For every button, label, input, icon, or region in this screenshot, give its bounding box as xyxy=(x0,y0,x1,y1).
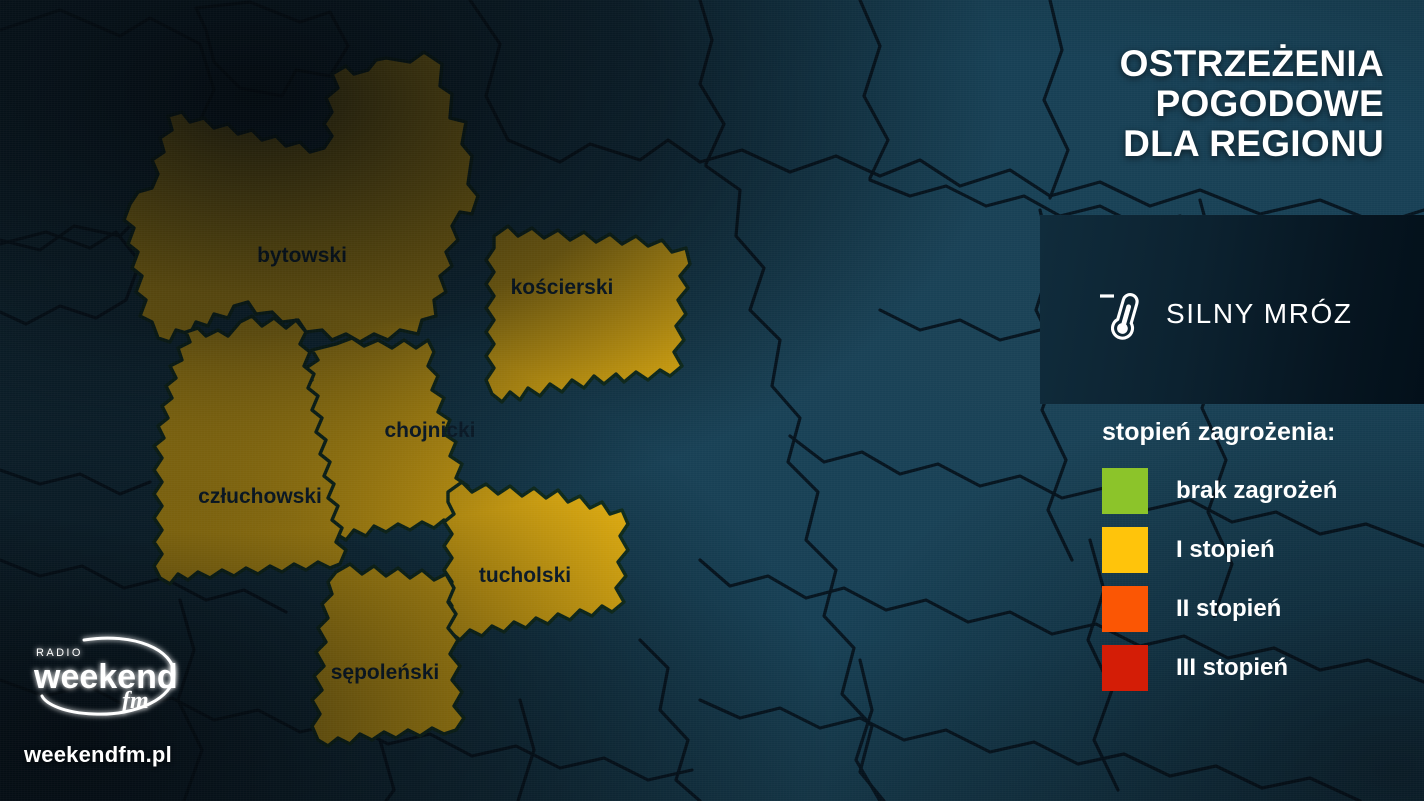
page-title: OSTRZEŻENIA POGODOWE DLA REGIONU xyxy=(1036,44,1384,164)
county-koscierski[interactable] xyxy=(486,226,690,402)
radio-weekend-fm-logo[interactable]: RADIO weekend fm xyxy=(22,628,192,724)
legend-label-stopien-2: II stopień xyxy=(1176,595,1281,623)
county-label-chojnicki: chojnicki xyxy=(384,419,475,442)
county-tucholski[interactable] xyxy=(444,482,628,640)
county-bytowski[interactable] xyxy=(124,52,478,342)
title-line-2: POGODOWE xyxy=(1036,84,1384,124)
county-label-tucholski: tucholski xyxy=(479,564,571,587)
legend-label-stopien-1: I stopień xyxy=(1176,536,1275,564)
county-sepolenski[interactable] xyxy=(312,564,464,746)
thermometer-cold-icon xyxy=(1098,286,1144,342)
legend-item-stopien-1[interactable]: I stopień xyxy=(1102,527,1422,573)
legend-item-stopien-2[interactable]: II stopień xyxy=(1102,586,1422,632)
legend-item-brak-zagrozen[interactable]: brak zagrożeń xyxy=(1102,468,1422,514)
warning-type-label: SILNY MRÓZ xyxy=(1166,298,1353,330)
warning-type-row: SILNY MRÓZ xyxy=(1098,286,1353,342)
title-line-3: DLA REGIONU xyxy=(1036,124,1384,164)
website-url[interactable]: weekendfm.pl xyxy=(24,742,172,768)
info-panel: OSTRZEŻENIA POGODOWE DLA REGIONU SILNY M… xyxy=(1040,0,1424,801)
legend-title: stopień zagrożenia: xyxy=(1102,418,1422,447)
county-label-sepolenski: sępoleński xyxy=(331,661,440,684)
legend-swatch-yellow xyxy=(1102,527,1148,573)
county-label-koscierski: kościerski xyxy=(511,276,614,299)
weather-warning-graphic: bytowski kościerski chojnicki człuchowsk… xyxy=(0,0,1424,801)
county-label-czluchowski: człuchowski xyxy=(198,485,322,508)
logo-fm-text: fm xyxy=(122,688,149,714)
logo-weekend-text: weekend xyxy=(33,658,178,696)
warned-counties xyxy=(124,52,690,746)
legend-swatch-green xyxy=(1102,468,1148,514)
legend: stopień zagrożenia: brak zagrożeń I stop… xyxy=(1102,418,1422,704)
title-line-1: OSTRZEŻENIA xyxy=(1036,44,1384,84)
legend-swatch-orange xyxy=(1102,586,1148,632)
legend-item-stopien-3[interactable]: III stopień xyxy=(1102,645,1422,691)
legend-label-brak-zagrozen: brak zagrożeń xyxy=(1176,477,1337,505)
county-label-bytowski: bytowski xyxy=(257,244,347,267)
logo-svg: RADIO weekend fm xyxy=(22,628,192,724)
legend-swatch-red xyxy=(1102,645,1148,691)
legend-label-stopien-3: III stopień xyxy=(1176,654,1288,682)
